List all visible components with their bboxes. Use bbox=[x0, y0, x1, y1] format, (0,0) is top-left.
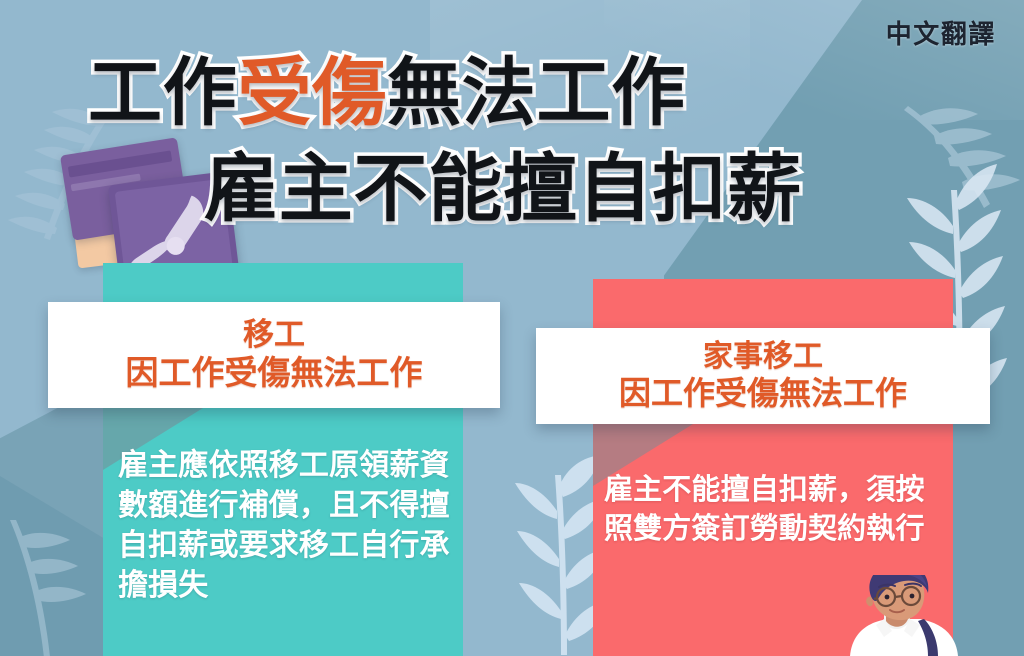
card-header-migrant-worker: 移工 因工作受傷無法工作 bbox=[48, 302, 500, 408]
card-header-line-2-right: 因工作受傷無法工作 bbox=[619, 375, 907, 412]
card-header-line-2-left: 因工作受傷無法工作 bbox=[126, 354, 423, 392]
title-line-1-part-a: 工作 bbox=[88, 50, 237, 136]
man-with-glasses-illustration bbox=[832, 575, 982, 656]
translation-badge: 中文翻譯 bbox=[886, 14, 996, 51]
title-line-2-text: 雇主不能擅自扣薪 bbox=[204, 146, 802, 232]
card-body-migrant-worker: 雇主應依照移工原領薪資數額進行補償，且不得擅自扣薪或要求移工自行承擔損失 bbox=[118, 446, 458, 606]
card-header-line-1-left: 移工 bbox=[243, 318, 305, 354]
title-line-2: 雇主不能擅自扣薪 bbox=[204, 152, 802, 226]
title-line-1: 工作受傷無法工作 bbox=[88, 56, 686, 130]
infographic-poster: 工作受傷無法工作 雇主不能擅自扣薪 中文翻譯 移工 因工作受傷無法工作 雇主應依… bbox=[0, 0, 1024, 656]
card-header-line-1-right: 家事移工 bbox=[703, 340, 823, 375]
title-line-1-highlight: 受傷 bbox=[237, 50, 386, 136]
card-header-domestic-migrant-worker: 家事移工 因工作受傷無法工作 bbox=[536, 328, 990, 424]
card-body-domestic-migrant-worker: 雇主不能擅自扣薪，須按照雙方簽訂勞動契約執行 bbox=[604, 470, 944, 547]
title-line-1-part-c: 無法工作 bbox=[387, 50, 686, 136]
